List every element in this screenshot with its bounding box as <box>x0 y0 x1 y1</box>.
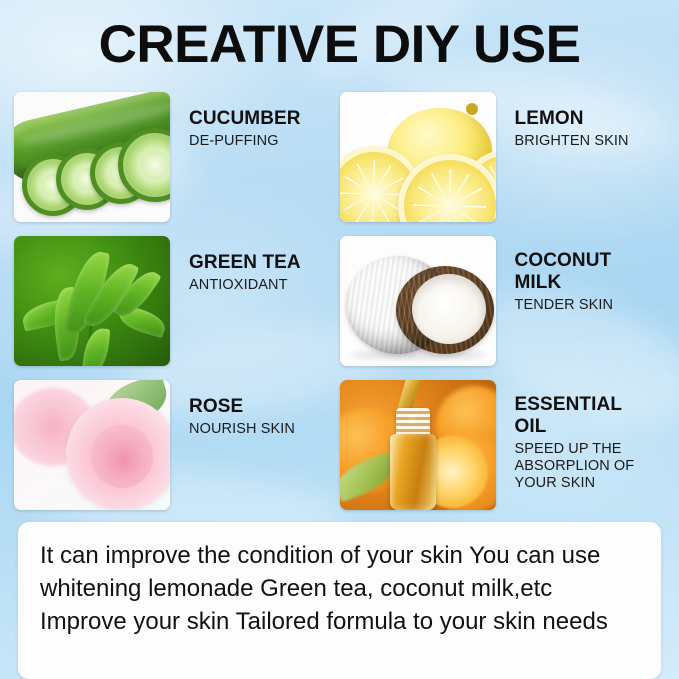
summary-note-box: It can improve the condition of your ski… <box>18 522 661 679</box>
benefit-name: ESSENTIAL OIL <box>515 394 656 438</box>
lemon-scene <box>340 92 496 222</box>
product-infographic: CREATIVE DIY USE CUCUMBER DE-P <box>0 0 679 679</box>
benefit-text: CUCUMBER DE-PUFFING <box>170 92 330 222</box>
benefit-name: ROSE <box>189 396 330 418</box>
rose-photo <box>14 380 170 510</box>
benefit-description: TENDER SKIN <box>515 297 656 314</box>
cucumber-scene <box>14 92 170 222</box>
oil-bottle <box>390 434 436 510</box>
coconut-photo <box>340 236 496 366</box>
summary-note-text: It can improve the condition of your ski… <box>40 539 639 638</box>
cucumber-photo <box>14 92 170 222</box>
benefit-text: ROSE NOURISH SKIN <box>170 380 330 510</box>
benefit-description: NOURISH SKIN <box>189 421 330 438</box>
benefit-item-green-tea: GREEN TEA ANTIOXIDANT <box>14 236 340 366</box>
benefit-description: DE-PUFFING <box>189 133 330 150</box>
benefit-text: ESSENTIAL OIL SPEED UP THE ABSORPLION OF… <box>496 380 656 510</box>
page-title: CREATIVE DIY USE <box>0 14 679 76</box>
benefit-text: COCONUT MILK TENDER SKIN <box>496 236 656 366</box>
benefit-item-lemon: LEMON BRIGHTEN SKIN <box>340 92 666 222</box>
benefit-item-rose: ROSE NOURISH SKIN <box>14 380 340 510</box>
benefit-name: CUCUMBER <box>189 108 330 130</box>
coconut-scene <box>340 236 496 366</box>
benefit-name: COCONUT MILK <box>515 250 656 294</box>
benefit-text: GREEN TEA ANTIOXIDANT <box>170 236 330 366</box>
benefit-description: ANTIOXIDANT <box>189 277 330 294</box>
benefit-item-essential-oil: ESSENTIAL OIL SPEED UP THE ABSORPLION OF… <box>340 380 666 510</box>
green-tea-scene <box>14 236 170 366</box>
benefit-description: BRIGHTEN SKIN <box>515 133 656 150</box>
green-tea-photo <box>14 236 170 366</box>
benefit-name: LEMON <box>515 108 656 130</box>
rose-scene <box>14 380 170 510</box>
rose-bloom <box>66 398 170 510</box>
benefit-item-cucumber: CUCUMBER DE-PUFFING <box>14 92 340 222</box>
essential-oil-scene <box>340 380 496 510</box>
essential-oil-photo <box>340 380 496 510</box>
benefit-name: GREEN TEA <box>189 252 330 274</box>
benefit-text: LEMON BRIGHTEN SKIN <box>496 92 656 222</box>
benefits-row: ROSE NOURISH SKIN <box>14 380 665 524</box>
benefits-row: CUCUMBER DE-PUFFING LEMON BRIGHT <box>14 92 665 236</box>
benefit-item-coconut-milk: COCONUT MILK TENDER SKIN <box>340 236 666 366</box>
coconut-flesh <box>412 274 486 344</box>
benefits-grid: CUCUMBER DE-PUFFING LEMON BRIGHT <box>14 92 665 524</box>
lemon-photo <box>340 92 496 222</box>
benefits-row: GREEN TEA ANTIOXIDANT COCONUT MILK <box>14 236 665 380</box>
benefit-description: SPEED UP THE ABSORPLION OF YOUR SKIN <box>515 441 656 492</box>
